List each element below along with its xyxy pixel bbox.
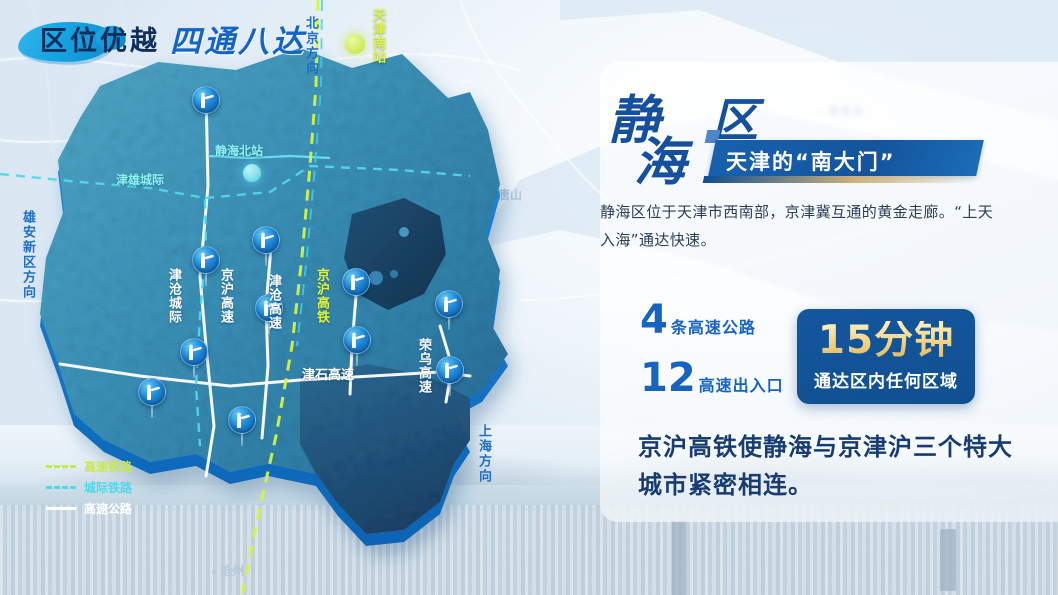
barrier-glyph [198, 251, 216, 271]
toll-gate-icon [255, 294, 283, 322]
body-paragraph: 静海区位于天津市西南部，京津冀互通的黄金走廊。“上天入海”通达快速。 [600, 198, 1000, 254]
stat-number: 4 [640, 302, 668, 338]
map-legend: 高速铁路 城际铁路 高速公路 [46, 456, 196, 519]
barrier-glyph [442, 361, 460, 381]
highlight-card-value: 15分钟 [818, 321, 954, 360]
closing-statement: 京沪高铁使静海与京津沪三个特大城市紧密相连。 [638, 428, 1018, 504]
barrier-glyph [349, 331, 367, 351]
toll-gate-pin[interactable] [342, 268, 370, 308]
legend-swatch-intercity-icon [46, 486, 76, 489]
toll-gate-pin[interactable] [343, 326, 371, 366]
toll-gate-icon [435, 290, 463, 318]
toll-gate-icon [436, 356, 464, 384]
barrier-glyph [441, 295, 459, 315]
toll-gate-icon [192, 86, 220, 114]
legend-swatch-expressway-icon [46, 507, 76, 510]
barrier-glyph [234, 411, 252, 431]
toll-gate-icon [138, 378, 166, 406]
toll-gate-pin[interactable] [192, 246, 220, 286]
toll-gate-pin[interactable] [435, 290, 463, 330]
landmark-tower [672, 521, 686, 595]
stats-list: 4 条高速公路 12 高速出入口 [640, 302, 810, 418]
stat-number: 12 [640, 360, 696, 396]
toll-gate-pin[interactable] [228, 406, 256, 446]
stat-item-interchanges: 12 高速出入口 [640, 360, 810, 396]
toll-gate-icon [252, 226, 280, 254]
stat-label: 高速出入口 [699, 372, 784, 396]
title-char-hai: 海 [634, 120, 686, 195]
toll-gate-icon [192, 246, 220, 274]
toll-gate-pin[interactable] [255, 294, 283, 334]
barrier-glyph [186, 343, 204, 363]
toll-gate-pin[interactable] [252, 226, 280, 266]
station-marker-jinghai-north[interactable] [243, 164, 261, 182]
legend-swatch-hsr-icon [46, 465, 76, 468]
barrier-glyph [258, 231, 276, 251]
toll-gate-icon [180, 338, 208, 366]
stat-item-expressways: 4 条高速公路 [640, 302, 810, 338]
station-marker-tianjin-south[interactable] [345, 34, 365, 54]
barrier-glyph [144, 383, 162, 403]
stat-label: 条高速公路 [671, 314, 756, 338]
legend-item-expressway: 高速公路 [46, 498, 196, 519]
highlight-card: 15分钟 通达区内任何区域 [797, 309, 975, 404]
subtitle-text: 天津的“南大门” [726, 146, 976, 171]
barrier-glyph [198, 91, 216, 111]
barrier-glyph [348, 273, 366, 293]
headline-left-text: 区位优越 [40, 19, 160, 58]
toll-gate-pin[interactable] [180, 338, 208, 378]
toll-gate-pin[interactable] [138, 378, 166, 418]
toll-gate-pin[interactable] [436, 356, 464, 396]
toll-gate-icon [342, 268, 370, 296]
toll-gate-icon [343, 326, 371, 354]
landmark-tower-2 [940, 529, 956, 591]
legend-item-hsr: 高速铁路 [46, 456, 196, 477]
toll-gate-pin[interactable] [192, 86, 220, 126]
barrier-glyph [261, 299, 279, 319]
legend-label-expressway: 高速公路 [84, 500, 132, 517]
toll-gate-icon [228, 406, 256, 434]
legend-label-hsr: 高速铁路 [84, 458, 132, 475]
city-dot-icon [212, 570, 216, 574]
highlight-card-caption: 通达区内任何区域 [814, 367, 958, 392]
legend-item-intercity: 城际铁路 [46, 477, 196, 498]
infographic-canvas: 区位优越 四通八达 唐山 秦皇岛 沧州 [0, 0, 1058, 595]
headline-right-text: 四通八达 [170, 16, 306, 61]
legend-label-intercity: 城际铁路 [84, 479, 132, 496]
